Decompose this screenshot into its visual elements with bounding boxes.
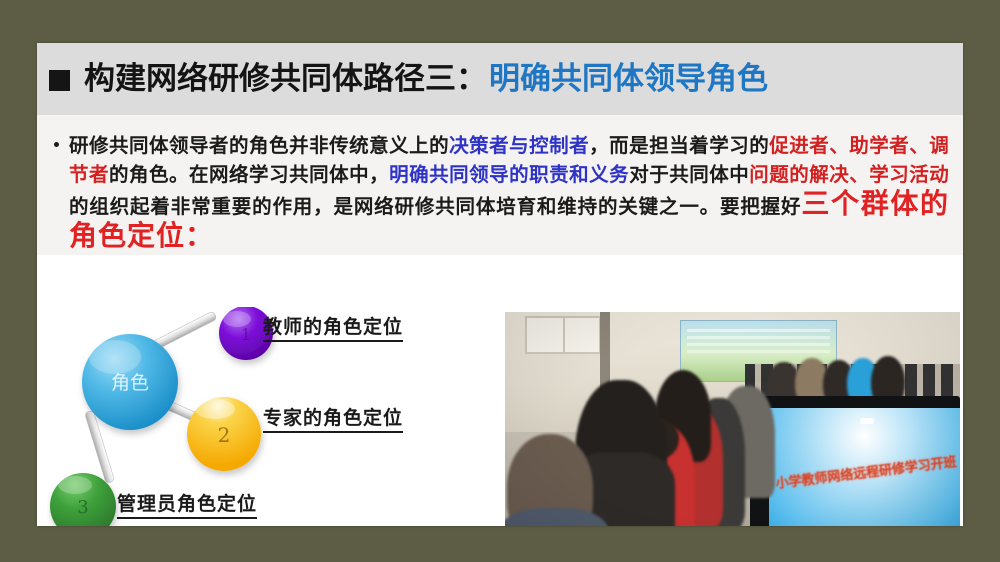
slide-title-bar: 构建网络研修共同体路径三： 明确共同体领导角色 [37,43,963,115]
role-diagram: 角色 1 2 [47,307,497,526]
body-paragraph-text: 研修共同体领导者的角色并非传统意义上的决策者与控制者，而是担当着学习的促进者、助… [69,134,949,250]
body-run-7: 问题的解决、学习活动 [749,163,949,186]
presentation-slide: 构建网络研修共同体路径三： 明确共同体领导角色 研修共同体领导者的角色并非传统意… [37,43,963,526]
body-run-4: 的角色。在网络学习共同体中， [109,163,389,186]
body-run-0: 研修共同体领导者的角色并非传统意义上的 [69,134,449,157]
slide-title-main: 构建网络研修共同体路径三： [84,64,487,95]
slide-content-area: 角色 1 2 [37,255,963,526]
body-run-8: 的组织起着非常重要的作用，是网络研修共同体培育和维持的关键之一。要把握好 [69,195,801,218]
expert-role-node-number: 2 [218,423,231,447]
classroom-photo: 小学教师网络远程研修学习开班 [505,312,960,526]
classroom-photo-image: 小学教师网络远程研修学习开班 [505,312,960,526]
teacher-role-label: 教师的角色定位 [263,312,403,342]
body-run-1: 决策者与控制者 [449,134,589,157]
slide-body-block: 研修共同体领导者的角色并非传统意义上的决策者与控制者，而是担当着学习的促进者、助… [37,115,963,255]
admin-role-node-number: 3 [77,497,88,518]
body-run-5: 明确共同领导的职责和义务 [389,163,629,186]
teacher-role-node-number: 1 [241,325,251,344]
admin-role-label: 管理员角色定位 [117,489,257,519]
body-run-2: ，而是担当着学习的 [589,134,769,157]
square-bullet-icon [49,70,70,91]
body-run-6: 对于共同体中 [629,163,749,186]
expert-role-label: 专家的角色定位 [263,403,403,433]
role-center-node-label: 角色 [111,372,149,394]
photo-screen-sticker [860,418,874,424]
slide-canvas: 构建网络研修共同体路径三： 明确共同体领导角色 研修共同体领导者的角色并非传统意… [0,0,1000,562]
photo-window [525,316,601,354]
slide-title-accent: 明确共同体领导角色 [489,64,768,95]
body-paragraph: 研修共同体领导者的角色并非传统意义上的决策者与控制者，而是担当着学习的促进者、助… [51,131,949,253]
round-bullet-icon [54,142,59,147]
